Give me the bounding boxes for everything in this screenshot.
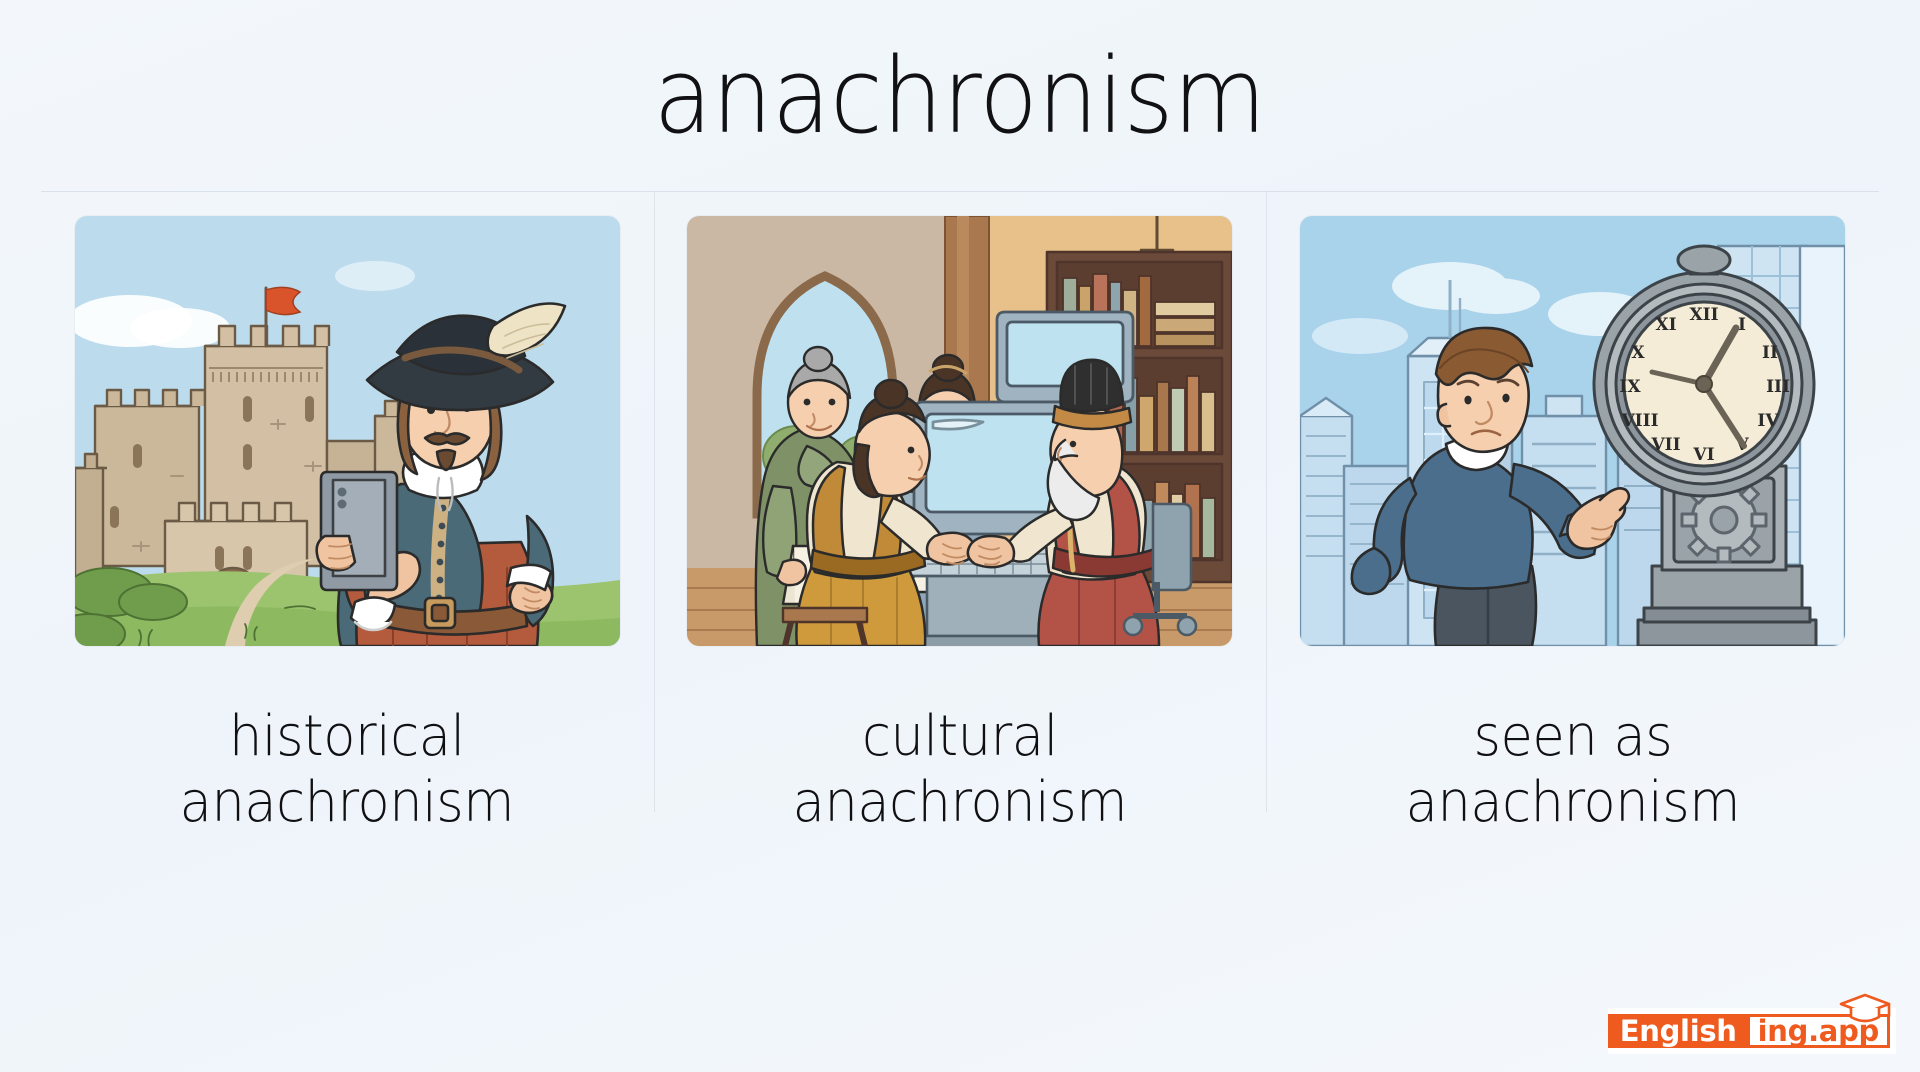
page-title: anachronism: [654, 42, 1266, 151]
graduation-cap-icon: [1837, 991, 1893, 1025]
svg-text:IX: IX: [1619, 377, 1641, 397]
caption-seen-as: seen as anachronism: [1405, 704, 1739, 835]
caption-cultural: cultural anachronism: [793, 704, 1127, 835]
svg-text:IV: IV: [1757, 411, 1779, 431]
svg-text:I: I: [1738, 315, 1746, 335]
caption-historical: historical anachronism: [180, 704, 514, 835]
svg-text:VI: VI: [1692, 445, 1714, 465]
svg-text:II: II: [1762, 343, 1778, 363]
svg-text:VIII: VIII: [1620, 411, 1658, 431]
illustration-cultural[interactable]: [687, 216, 1232, 646]
watermark-logo[interactable]: English ing.app: [1608, 1008, 1896, 1054]
illustration-historical[interactable]: [75, 216, 620, 646]
svg-text:III: III: [1766, 377, 1790, 397]
svg-text:XII: XII: [1689, 305, 1718, 325]
watermark-left-text: English: [1608, 1014, 1747, 1048]
panel-row: historical anachronism: [41, 192, 1879, 835]
svg-text:X: X: [1631, 343, 1645, 363]
panel-cultural[interactable]: cultural anachronism: [654, 192, 1267, 835]
panel-seen-as[interactable]: XII I II III IV V VI VII VIII IX X: [1266, 192, 1879, 835]
svg-text:VII: VII: [1650, 435, 1680, 455]
watermark-right-text: ing.app: [1747, 1014, 1890, 1048]
panel-historical[interactable]: historical anachronism: [41, 192, 654, 835]
word-illustration-page: anachronism: [0, 0, 1920, 1072]
illustration-seen-as[interactable]: XII I II III IV V VI VII VIII IX X: [1300, 216, 1845, 646]
svg-text:XI: XI: [1655, 315, 1676, 335]
